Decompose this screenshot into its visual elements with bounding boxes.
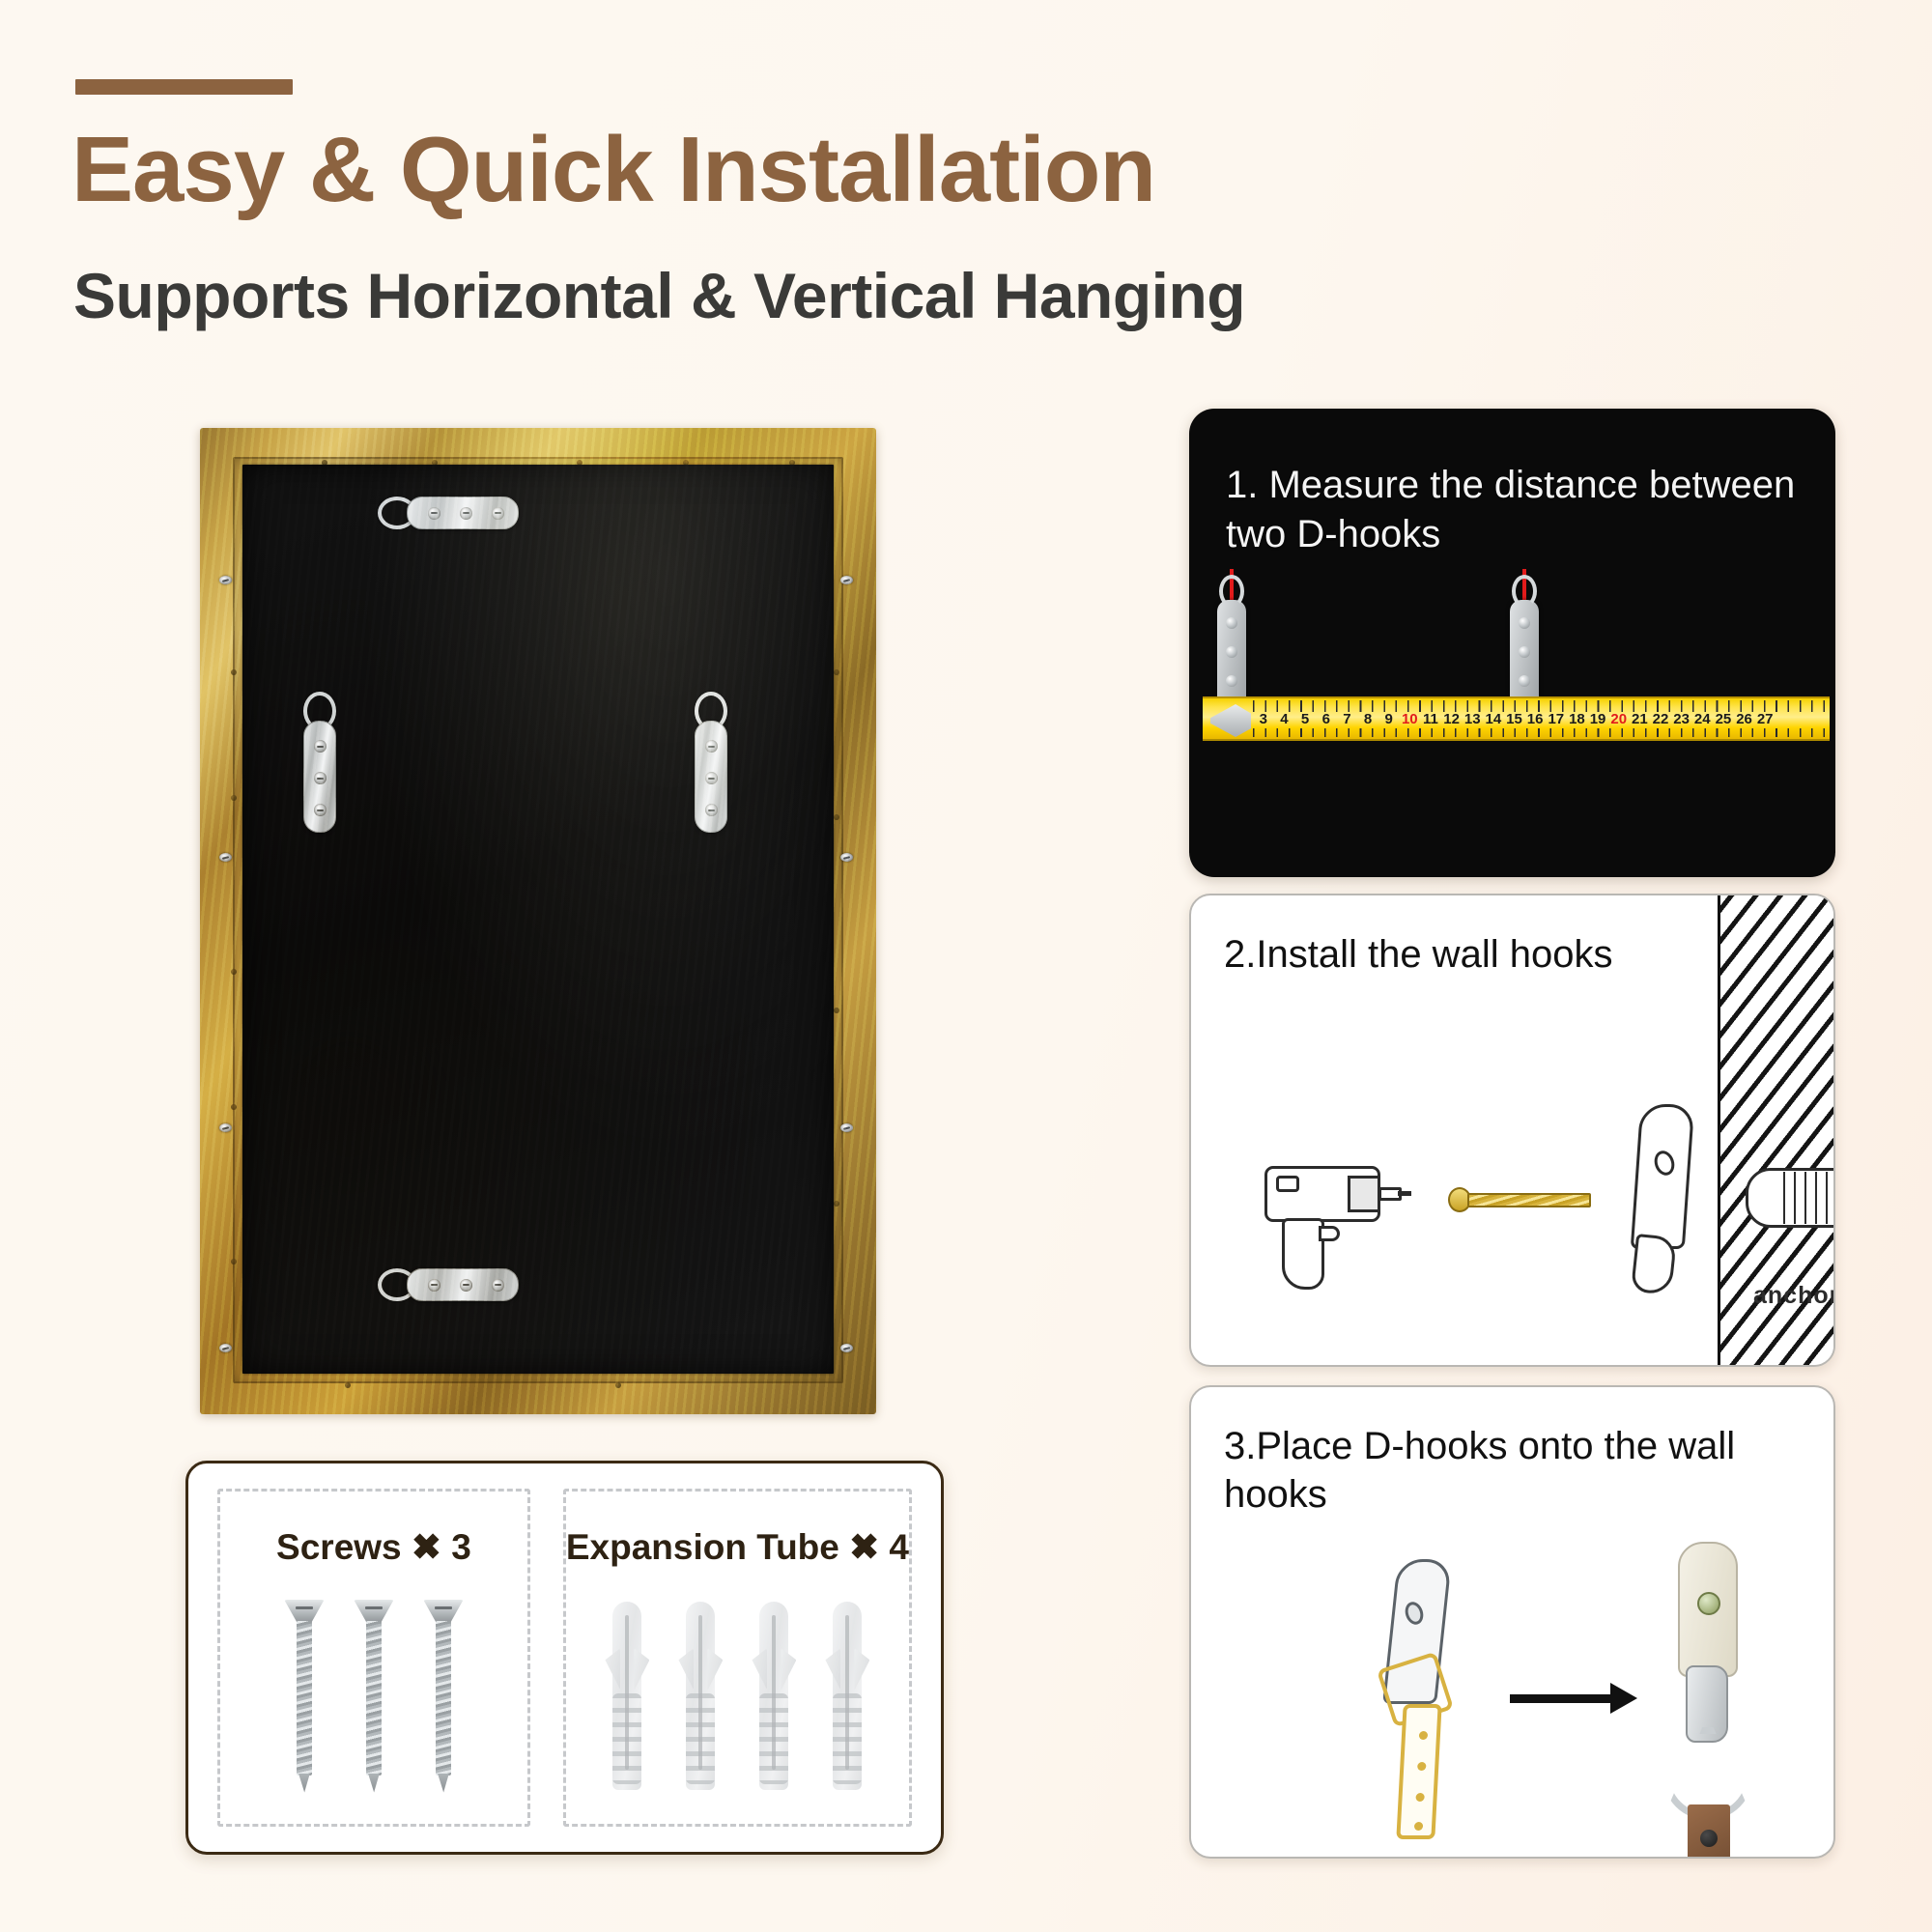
dhook-left-photo bbox=[1217, 600, 1246, 708]
frame-backing-board bbox=[242, 465, 834, 1374]
tape-ticks-bottom bbox=[1253, 728, 1828, 737]
tape-number: 26 bbox=[1734, 711, 1755, 727]
hook-screw bbox=[314, 804, 327, 816]
d-ring bbox=[303, 692, 336, 730]
frame-nail bbox=[834, 1008, 839, 1013]
frame-screw bbox=[840, 1123, 853, 1132]
tape-number: 18 bbox=[1567, 711, 1588, 727]
page-title: Easy & Quick Installation bbox=[71, 122, 1155, 219]
hook-screw bbox=[1697, 1592, 1720, 1615]
tape-number: 3 bbox=[1253, 711, 1274, 727]
tape-number: 16 bbox=[1524, 711, 1546, 727]
hook-screw bbox=[1226, 675, 1237, 687]
hook-screw bbox=[460, 1279, 472, 1292]
screw-icon bbox=[423, 1600, 464, 1793]
tape-number: 12 bbox=[1441, 711, 1463, 727]
tape-hook-end bbox=[1210, 704, 1251, 737]
screw-icon bbox=[354, 1600, 394, 1793]
frame-screw bbox=[219, 853, 232, 862]
step-1-panel: 1. Measure the distance between two D-ho… bbox=[1189, 409, 1835, 877]
tape-number: 7 bbox=[1337, 711, 1358, 727]
expansion-tube-icon bbox=[825, 1602, 869, 1790]
tape-number: 5 bbox=[1294, 711, 1316, 727]
hook-screw bbox=[705, 740, 718, 753]
frame-nail bbox=[231, 1259, 237, 1264]
hardware-cell-expansion-tubes: Expansion Tube ✖ 4 bbox=[563, 1489, 912, 1827]
frame-nail bbox=[231, 795, 237, 801]
d-ring bbox=[695, 692, 727, 730]
expansion-tube-icon bbox=[605, 1602, 649, 1790]
hook-screw bbox=[1226, 617, 1237, 629]
hook-screw bbox=[492, 1279, 504, 1292]
frame-nail bbox=[231, 969, 237, 975]
frame-nail bbox=[231, 669, 237, 675]
tape-number: 6 bbox=[1316, 711, 1337, 727]
d-ring bbox=[1219, 575, 1244, 608]
expansion-tube-icon bbox=[678, 1602, 723, 1790]
expansion-tube-label: Expansion Tube ✖ 4 bbox=[566, 1526, 909, 1568]
tape-number: 15 bbox=[1504, 711, 1525, 727]
frame-screw bbox=[219, 576, 232, 584]
step-2-panel: 2.Install the wall hooks anchor bbox=[1189, 894, 1835, 1367]
tape-number: 19 bbox=[1587, 711, 1608, 727]
hook-screw bbox=[492, 507, 504, 520]
page-subtitle: Supports Horizontal & Vertical Hanging bbox=[73, 263, 1245, 329]
frame-nail bbox=[834, 669, 839, 675]
screws-label: Screws ✖ 3 bbox=[276, 1526, 471, 1568]
frame-border bbox=[200, 428, 876, 1414]
hook-screw bbox=[460, 507, 472, 520]
hook-screw bbox=[1226, 646, 1237, 658]
tape-number: 20 bbox=[1608, 711, 1630, 727]
wall-hook-icon bbox=[1628, 1104, 1697, 1305]
d-ring bbox=[1512, 575, 1537, 608]
tape-number: 13 bbox=[1462, 711, 1483, 727]
frame-screw bbox=[840, 853, 853, 862]
tape-number: 9 bbox=[1378, 711, 1400, 727]
hook-screw bbox=[705, 772, 718, 784]
frame-nail bbox=[615, 1382, 621, 1388]
assembled-hook-photo bbox=[1643, 1542, 1778, 1859]
frame-screw bbox=[219, 1344, 232, 1352]
hook-screw bbox=[1519, 646, 1530, 658]
expansion-tubes-illustration bbox=[605, 1568, 869, 1824]
accent-bar bbox=[75, 79, 293, 95]
screw-icon bbox=[1448, 1185, 1591, 1214]
tape-number: 8 bbox=[1357, 711, 1378, 727]
tape-numbers: 3456789101112131415161718192021222324252… bbox=[1253, 711, 1776, 727]
hook-strap bbox=[407, 497, 519, 529]
tape-number: 11 bbox=[1420, 711, 1441, 727]
step-3-panel: 3.Place D-hooks onto the wall hooks bbox=[1189, 1385, 1835, 1859]
frame-screw bbox=[840, 1344, 853, 1352]
hook-screw bbox=[428, 507, 440, 520]
hook-strap bbox=[407, 1268, 519, 1301]
tape-number: 25 bbox=[1713, 711, 1734, 727]
hook-screw bbox=[428, 1279, 440, 1292]
frame-screw bbox=[219, 1123, 232, 1132]
tape-measure-scene: 3456789101112131415161718192021222324252… bbox=[1189, 633, 1835, 807]
included-hardware-card: Screws ✖ 3 Expansion Tube ✖ 4 bbox=[185, 1461, 944, 1855]
dhook-right-photo bbox=[1510, 600, 1539, 708]
tape-number: 23 bbox=[1671, 711, 1692, 727]
d-ring bbox=[378, 1268, 416, 1301]
hook-screw bbox=[705, 804, 718, 816]
hook-screw bbox=[314, 772, 327, 784]
arrow-right-icon bbox=[1510, 1694, 1614, 1703]
tape-number: 24 bbox=[1691, 711, 1713, 727]
tape-measure: 3456789101112131415161718192021222324252… bbox=[1203, 696, 1830, 741]
screw-icon bbox=[284, 1600, 325, 1793]
tape-number: 17 bbox=[1546, 711, 1567, 727]
tape-number: 10 bbox=[1399, 711, 1420, 727]
hook-screw bbox=[314, 740, 327, 753]
d-ring bbox=[378, 497, 416, 529]
frame-nail bbox=[834, 814, 839, 820]
step-2-text: 2.Install the wall hooks bbox=[1224, 930, 1660, 979]
hook-screw bbox=[1519, 617, 1530, 629]
screws-illustration bbox=[284, 1568, 464, 1824]
frame-nail bbox=[231, 1104, 237, 1110]
tape-number: 22 bbox=[1650, 711, 1671, 727]
product-photo-frame-back bbox=[200, 428, 876, 1414]
drill-icon bbox=[1264, 1145, 1409, 1290]
tape-number: 4 bbox=[1274, 711, 1295, 727]
tape-number: 27 bbox=[1754, 711, 1776, 727]
expansion-tube-icon bbox=[752, 1602, 796, 1790]
anchor-icon bbox=[1746, 1158, 1835, 1245]
hook-strap bbox=[695, 721, 727, 833]
hook-screw bbox=[1519, 675, 1530, 687]
step-1-text: 1. Measure the distance between two D-ho… bbox=[1226, 461, 1814, 559]
frame-nail bbox=[345, 1382, 351, 1388]
tape-number: 21 bbox=[1630, 711, 1651, 727]
frame-nail bbox=[834, 1201, 839, 1207]
anchor-label: anchor bbox=[1753, 1282, 1835, 1310]
step-3-text: 3.Place D-hooks onto the wall hooks bbox=[1224, 1422, 1776, 1520]
frame-screw bbox=[840, 576, 853, 584]
hardware-cell-screws: Screws ✖ 3 bbox=[217, 1489, 530, 1827]
hook-strap bbox=[1396, 1704, 1441, 1839]
tape-number: 14 bbox=[1483, 711, 1504, 727]
hook-strap bbox=[303, 721, 336, 833]
dhook-onto-wallhook-diagram bbox=[1373, 1559, 1489, 1839]
